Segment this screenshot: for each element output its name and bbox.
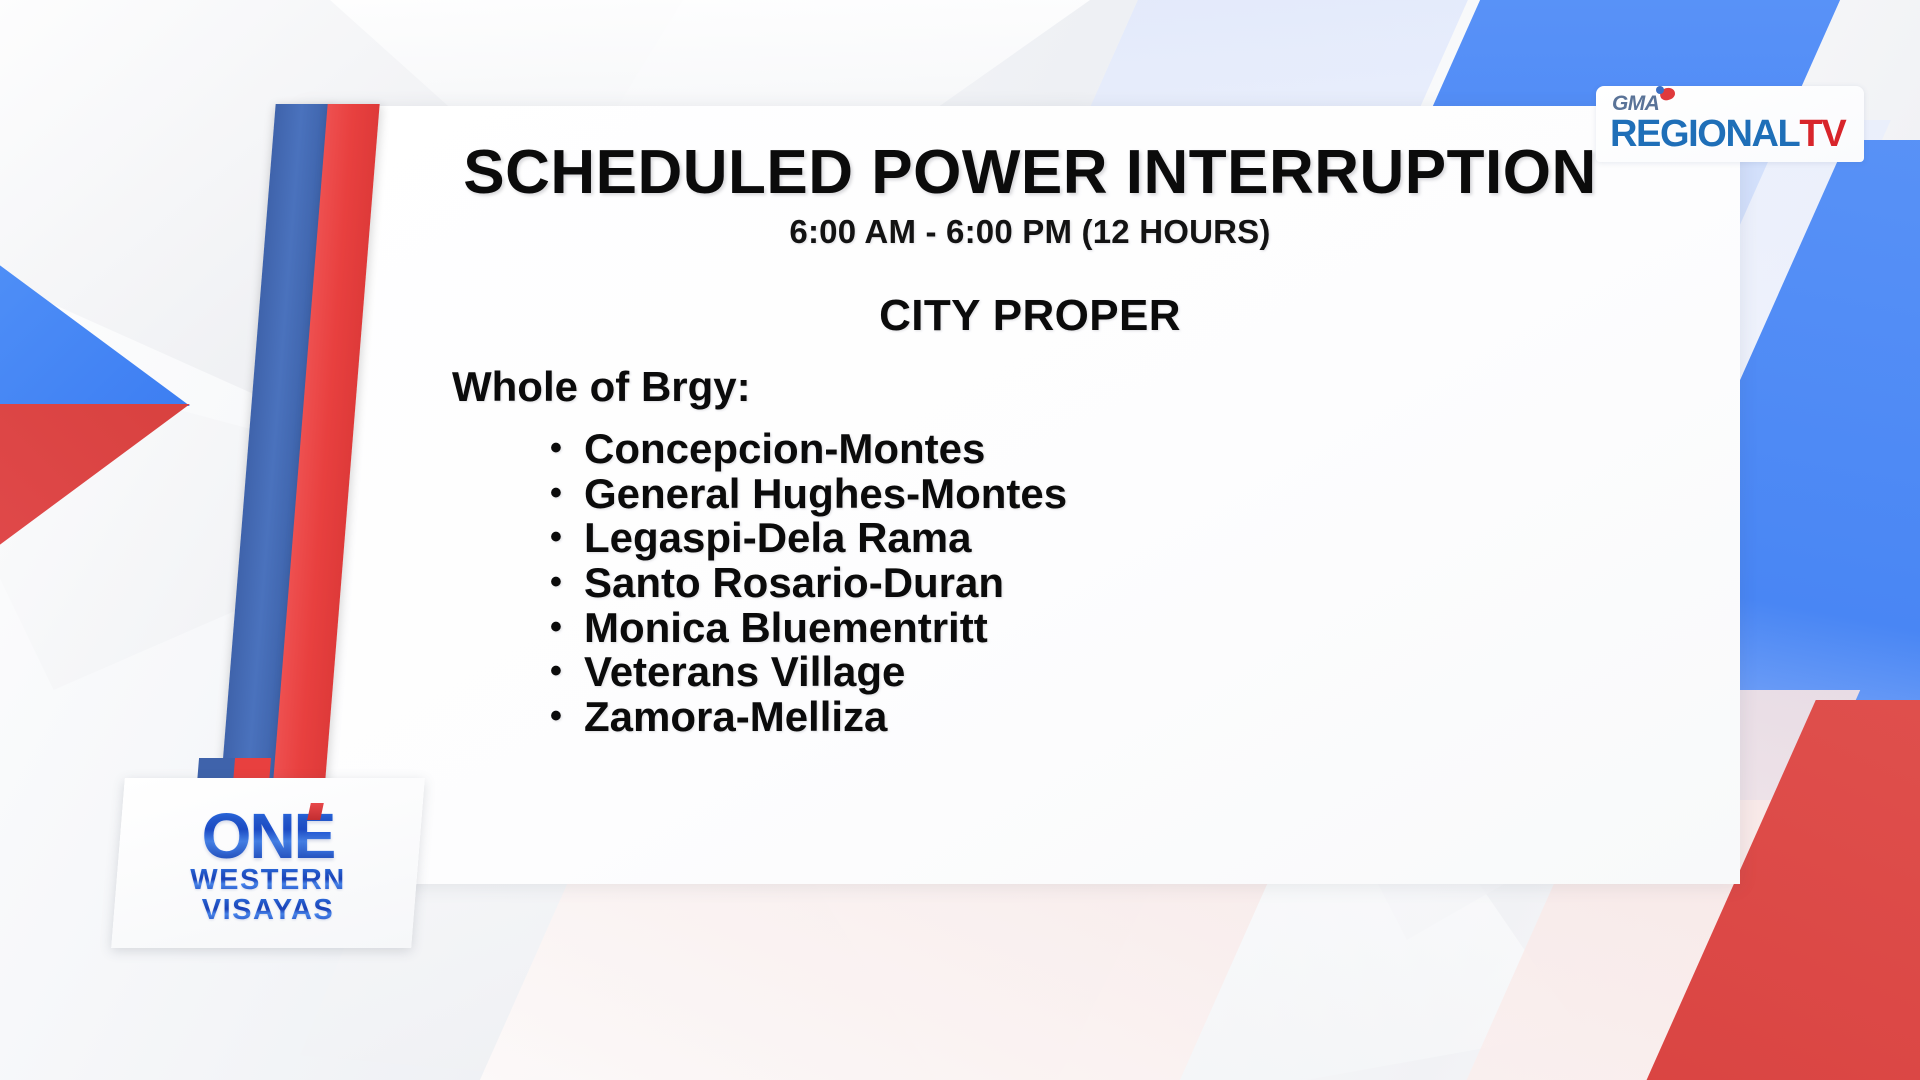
list-item-label: Concepcion-Montes [584, 427, 985, 471]
list-item: • Legaspi-Dela Rama [550, 516, 1700, 560]
bullet-icon: • [550, 654, 584, 688]
list-item-label: Legaspi-Dela Rama [584, 516, 971, 560]
bullet-icon: • [550, 565, 584, 599]
gma-wordmark: GMA [1612, 93, 1659, 114]
owv-visayas-wordmark: VISAYAS [202, 896, 335, 925]
coverage-label: Whole of Brgy: [452, 363, 1700, 411]
list-item-label: General Hughes-Montes [584, 472, 1067, 516]
list-item: • General Hughes-Montes [550, 472, 1700, 516]
bullet-icon: • [550, 610, 584, 644]
list-item: • Monica Bluementritt [550, 606, 1700, 650]
bullet-icon: • [550, 476, 584, 510]
barangay-list: • Concepcion-Montes • General Hughes-Mon… [550, 427, 1700, 739]
area-heading: CITY PROPER [360, 291, 1700, 341]
tv-wordmark: TV [1799, 115, 1845, 153]
regional-tv-row: REGIONAL TV [1610, 115, 1846, 153]
satellite-dish-icon [1656, 86, 1678, 106]
list-item: • Zamora-Melliza [550, 695, 1700, 739]
list-item: • Santo Rosario-Duran [550, 561, 1700, 605]
one-western-visayas-logo: ONE WESTERN VISAYAS [111, 778, 425, 948]
list-item-label: Santo Rosario-Duran [584, 561, 1004, 605]
time-range-label: 6:00 AM - 6:00 PM (12 HOURS) [360, 213, 1700, 251]
bullet-icon: • [550, 431, 584, 465]
regional-wordmark: REGIONAL [1610, 115, 1799, 153]
bullet-icon: • [550, 520, 584, 554]
bullet-icon: • [550, 699, 584, 733]
gma-regional-tv-logo: GMA REGIONAL TV [1596, 86, 1864, 162]
owv-one-wordmark: ONE [202, 807, 335, 866]
list-item: • Concepcion-Montes [550, 427, 1700, 471]
list-item-label: Monica Bluementritt [584, 606, 988, 650]
owv-accent-tick-icon [308, 803, 325, 820]
list-item: • Veterans Village [550, 650, 1700, 694]
page-title: SCHEDULED POWER INTERRUPTION [360, 140, 1700, 205]
list-item-label: Zamora-Melliza [584, 695, 887, 739]
broadcast-graphic: SCHEDULED POWER INTERRUPTION 6:00 AM - 6… [0, 0, 1920, 1080]
panel-content: SCHEDULED POWER INTERRUPTION 6:00 AM - 6… [360, 140, 1700, 740]
list-item-label: Veterans Village [584, 650, 905, 694]
